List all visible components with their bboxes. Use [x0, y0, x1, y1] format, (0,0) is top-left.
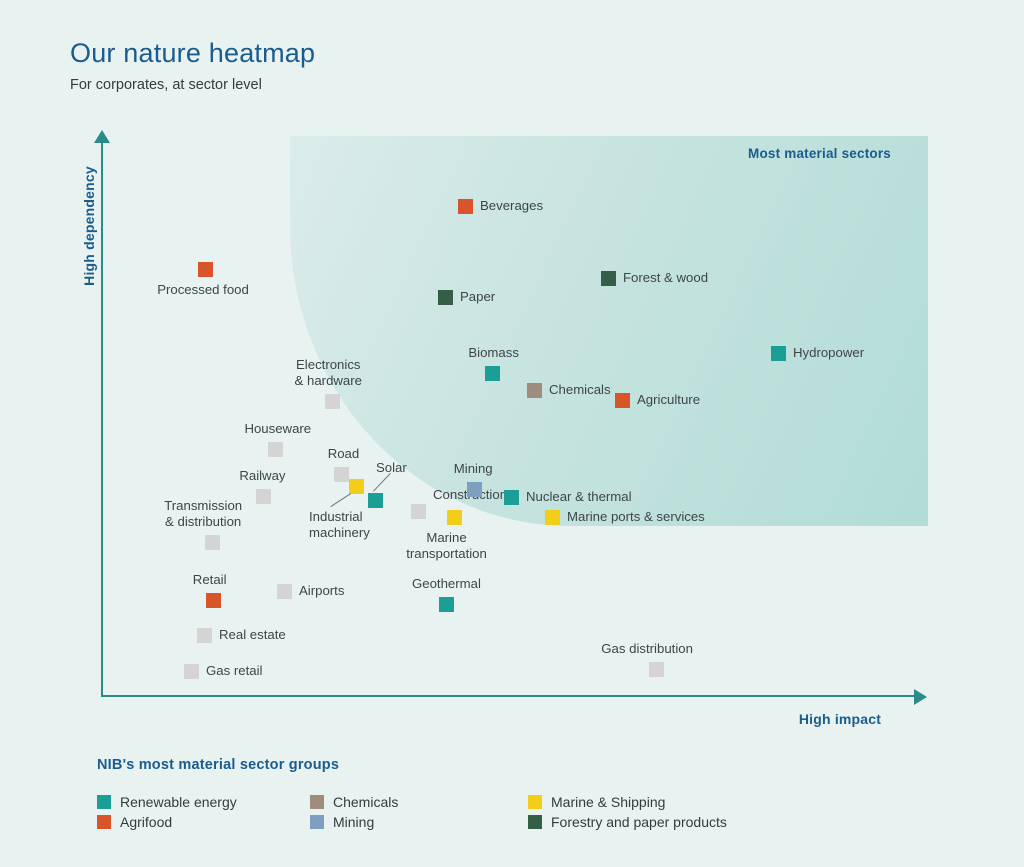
data-point-marker[interactable]: [467, 482, 482, 497]
data-point-marker[interactable]: [206, 593, 221, 608]
data-point-label: Biomass: [468, 345, 519, 361]
data-point-label: Solar: [376, 460, 407, 476]
data-point-marker[interactable]: [601, 271, 616, 286]
data-point-marker[interactable]: [334, 467, 349, 482]
data-point-label: Marine transportation: [406, 530, 487, 562]
chart-canvas: Our nature heatmap For corporates, at se…: [0, 0, 1024, 867]
scatter-plot: Most material sectors High dependency Hi…: [0, 0, 1024, 760]
data-point-marker[interactable]: [197, 628, 212, 643]
y-axis-line: [101, 140, 103, 696]
data-point-label: Processed food: [157, 282, 249, 298]
legend-item[interactable]: Agrifood: [97, 814, 172, 830]
legend-swatch-icon: [97, 815, 111, 829]
legend-swatch-icon: [528, 795, 542, 809]
data-point-marker[interactable]: [268, 442, 283, 457]
data-point-label: Gas retail: [206, 663, 262, 679]
data-point-marker[interactable]: [256, 489, 271, 504]
data-point-label: Hydropower: [793, 345, 864, 361]
data-point-label: Transmission & distribution: [164, 498, 242, 530]
data-point-label: Chemicals: [549, 382, 611, 398]
x-axis-arrow-icon: [914, 689, 927, 705]
legend-swatch-icon: [310, 815, 324, 829]
legend-item-label: Chemicals: [333, 794, 398, 810]
data-point-label: Airports: [299, 583, 344, 599]
most-material-label: Most material sectors: [748, 146, 891, 161]
x-axis-label: High impact: [760, 711, 920, 727]
legend-item-label: Marine & Shipping: [551, 794, 665, 810]
data-point-marker[interactable]: [325, 394, 340, 409]
data-point-label: Marine ports & services: [567, 509, 705, 525]
x-axis-line: [101, 695, 921, 697]
data-point-label: Real estate: [219, 627, 286, 643]
legend-item-label: Renewable energy: [120, 794, 237, 810]
data-point-label: Retail: [193, 572, 227, 588]
data-point-marker[interactable]: [277, 584, 292, 599]
legend-swatch-icon: [97, 795, 111, 809]
legend-item[interactable]: Marine & Shipping: [528, 794, 665, 810]
data-point-marker[interactable]: [184, 664, 199, 679]
legend-item[interactable]: Forestry and paper products: [528, 814, 727, 830]
data-point-marker[interactable]: [205, 535, 220, 550]
data-point-label: Nuclear & thermal: [526, 489, 632, 505]
data-point-marker[interactable]: [368, 493, 383, 508]
data-point-marker[interactable]: [504, 490, 519, 505]
legend-item[interactable]: Mining: [310, 814, 374, 830]
data-point-label: Electronics & hardware: [295, 357, 362, 389]
data-point-marker[interactable]: [198, 262, 213, 277]
data-point-label: Agriculture: [637, 392, 700, 408]
legend-item-label: Mining: [333, 814, 374, 830]
data-point-label: Mining: [454, 461, 493, 477]
legend-swatch-icon: [528, 815, 542, 829]
legend-title: NIB's most material sector groups: [97, 757, 339, 773]
legend-item-label: Agrifood: [120, 814, 172, 830]
data-point-marker[interactable]: [438, 290, 453, 305]
data-point-label: Railway: [239, 468, 285, 484]
legend-item[interactable]: Chemicals: [310, 794, 398, 810]
data-point-label: Industrial machinery: [309, 509, 370, 541]
data-point-marker[interactable]: [771, 346, 786, 361]
data-point-marker[interactable]: [545, 510, 560, 525]
data-point-label: Geothermal: [412, 576, 481, 592]
data-point-marker[interactable]: [411, 504, 426, 519]
data-point-label: Paper: [460, 289, 495, 305]
legend-swatch-icon: [310, 795, 324, 809]
data-point-marker[interactable]: [615, 393, 630, 408]
data-point-marker[interactable]: [485, 366, 500, 381]
data-point-marker[interactable]: [349, 479, 364, 494]
data-point-label: Road: [328, 446, 360, 462]
label-leader-line: [330, 493, 351, 507]
data-point-label: Houseware: [244, 421, 311, 437]
data-point-marker[interactable]: [458, 199, 473, 214]
data-point-marker[interactable]: [447, 510, 462, 525]
data-point-marker[interactable]: [649, 662, 664, 677]
data-point-marker[interactable]: [527, 383, 542, 398]
legend: NIB's most material sector groups Renewa…: [0, 750, 1024, 867]
data-point-marker[interactable]: [439, 597, 454, 612]
legend-item[interactable]: Renewable energy: [97, 794, 237, 810]
legend-item-label: Forestry and paper products: [551, 814, 727, 830]
data-point-label: Forest & wood: [623, 270, 708, 286]
data-point-label: Gas distribution: [601, 641, 693, 657]
data-point-label: Beverages: [480, 198, 543, 214]
y-axis-label: High dependency: [81, 136, 97, 316]
